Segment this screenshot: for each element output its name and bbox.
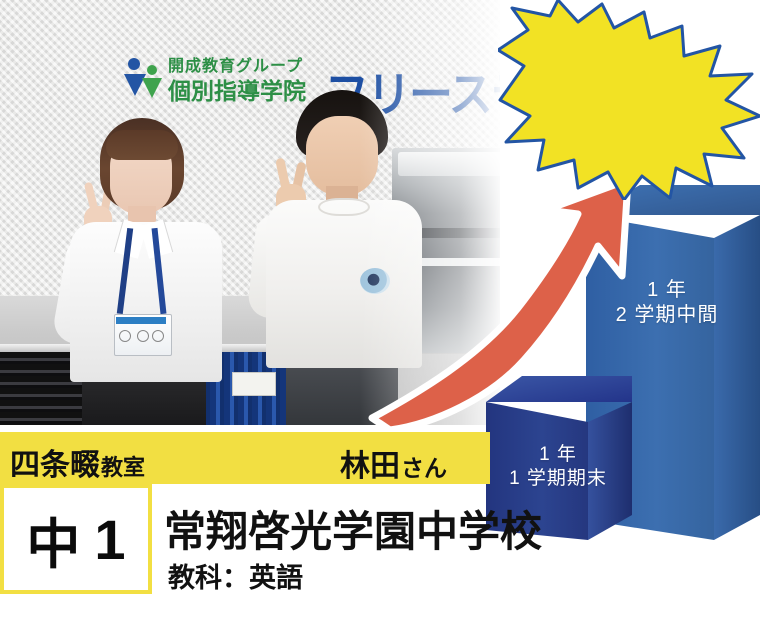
grade-level: 中 (26, 500, 80, 579)
bar-label-term1-final: 1 年 1 学期期末 (492, 443, 624, 491)
classroom-suffix: 教室 (101, 450, 145, 482)
school-name: 常翔啓光学園中学校 (164, 498, 542, 559)
growth-arrow-svg (360, 180, 650, 430)
instructor-badge-dot-2 (137, 330, 149, 342)
score-up-starburst: 20 点 UP! (498, 0, 760, 200)
classroom-name: 四条畷 (10, 440, 100, 484)
subject-label: 教科：英語 (168, 556, 303, 595)
starburst-shape (498, 0, 760, 200)
student-name-label: 林田さん (340, 441, 447, 485)
student-name: 林田 (340, 441, 400, 485)
person-figure-icon (122, 56, 162, 100)
growth-arrow (360, 180, 650, 430)
instructor-badge-header (116, 317, 166, 324)
instructor-bangs (106, 130, 178, 160)
instructor-badge-dot-3 (152, 330, 164, 342)
student-name-suffix: さん (401, 449, 447, 483)
instructor-badge-dot-1 (119, 330, 131, 342)
classroom-label: 四条畷教室 (10, 440, 145, 484)
grade-box: 中 1 (4, 488, 148, 590)
grade-year: 1 (94, 507, 125, 572)
instructor-figure (52, 118, 242, 425)
